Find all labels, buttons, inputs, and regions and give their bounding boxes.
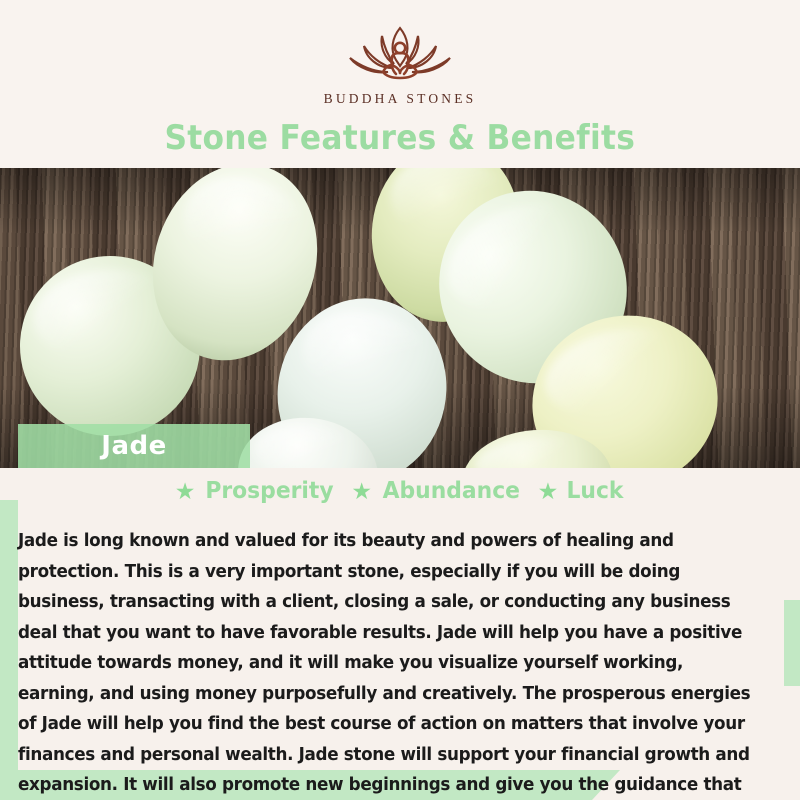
keyword-label: Abundance [383,478,520,504]
keyword-abundance: ★ Abundance [351,478,523,504]
decorative-band-right-lower [784,600,800,686]
star-icon: ★ [175,480,196,503]
title-banner: Stone Features & Benefits [0,118,800,158]
page-title: Stone Features & Benefits [165,118,636,158]
brand-name: BUDDHA STONES [0,91,800,107]
header: BUDDHA STONES Stone Features & Benefits [0,0,800,168]
keyword-label: Prosperity [206,478,334,504]
jade-stones-photo: Jade [0,168,800,468]
description-text: Jade is long known and valued for its be… [18,526,759,800]
keyword-luck: ★ Luck [538,478,626,504]
star-icon: ★ [351,480,372,503]
star-icon: ★ [538,480,559,503]
infographic-page: BUDDHA STONES Stone Features & Benefits … [0,0,800,800]
keyword-label: Luck [567,478,624,504]
stone-name-text: Jade [101,431,166,461]
stone-name-label: Jade [18,424,250,468]
brand-logo: BUDDHA STONES [0,20,800,107]
keyword-list: ★ Prosperity ★ Abundance ★ Luck [0,478,800,504]
lotus-meditation-icon [330,20,470,86]
decorative-band-left-lower [0,500,18,770]
keyword-prosperity: ★ Prosperity [175,478,338,504]
